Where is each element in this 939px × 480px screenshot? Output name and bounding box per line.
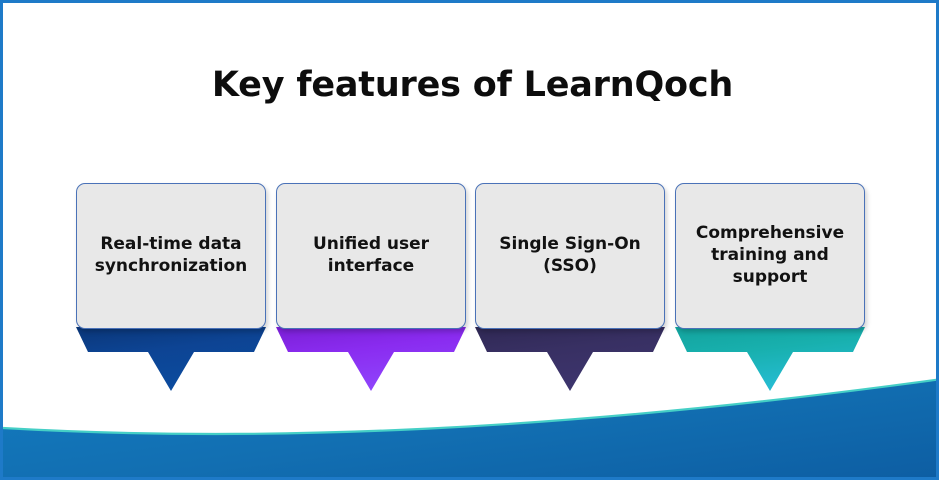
feature-card-1[interactable]: Real-time data synchronization bbox=[76, 183, 266, 393]
feature-card-2[interactable]: Unified user interface bbox=[276, 183, 466, 393]
feature-card-4[interactable]: Comprehensive training and support bbox=[675, 183, 865, 393]
feature-card-2-pointer bbox=[276, 325, 466, 393]
feature-card-2-label: Unified user interface bbox=[311, 234, 431, 278]
feature-card-1-pointer bbox=[76, 325, 266, 393]
feature-card-1-label: Real-time data synchronization bbox=[93, 234, 250, 278]
feature-card-4-label: Comprehensive training and support bbox=[694, 223, 846, 288]
feature-cards-row: Real-time data synchronization bbox=[76, 183, 862, 393]
feature-card-2-box[interactable]: Unified user interface bbox=[276, 183, 466, 329]
feature-card-1-box[interactable]: Real-time data synchronization bbox=[76, 183, 266, 329]
feature-card-3-pointer bbox=[475, 325, 665, 393]
page-title: Key features of LearnQoch bbox=[3, 65, 939, 105]
feature-card-4-pointer bbox=[675, 325, 865, 393]
feature-card-3-box[interactable]: Single Sign-On (SSO) bbox=[475, 183, 665, 329]
feature-card-3-label: Single Sign-On (SSO) bbox=[497, 234, 643, 278]
feature-card-4-box[interactable]: Comprehensive training and support bbox=[675, 183, 865, 329]
slide-canvas: Key features of LearnQoch Real-time data… bbox=[0, 0, 939, 480]
feature-card-3[interactable]: Single Sign-On (SSO) bbox=[475, 183, 665, 393]
